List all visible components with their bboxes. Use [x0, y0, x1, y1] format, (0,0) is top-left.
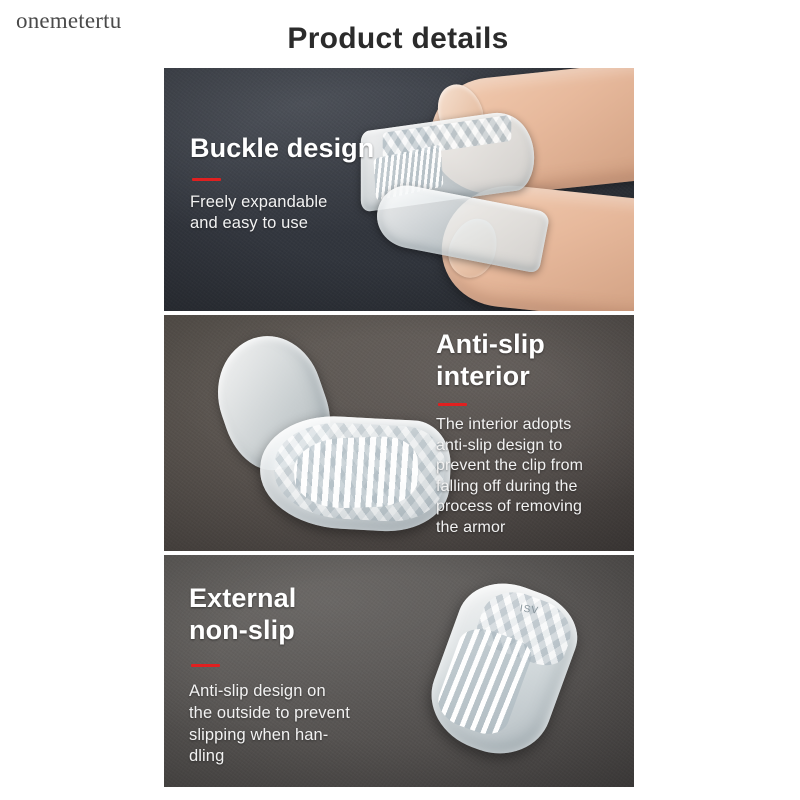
panel-2-body-line-2: anti-slip design to [436, 436, 626, 456]
panel-1-caption: Buckle design Freely expandable and easy… [190, 133, 410, 235]
panel-3-body-line-3: slipping when han- [189, 725, 404, 747]
panel-3-body-line-2: the outside to prevent [189, 703, 404, 725]
panel-1-heading: Buckle design [190, 133, 410, 165]
closed-clip-exterior-photo: ISV [426, 575, 626, 765]
page-title: Product details [0, 22, 800, 56]
panel-3-caption: External non-slip Anti-slip design on th… [189, 583, 404, 768]
clip-closed-body: ISV [417, 569, 589, 769]
panel-2-body-line-3: prevent the clip from [436, 456, 626, 476]
panel-1-body-line-2: and easy to use [190, 213, 410, 235]
open-clip-interior-photo [195, 321, 456, 549]
panel-2-body-line-6: the armor [436, 518, 626, 538]
panel-3-body-line-4: dling [189, 746, 404, 768]
panel-3-heading-line-1: External [189, 583, 404, 615]
panel-2-heading-line-2: interior [436, 361, 626, 393]
panel-2-body-line-5: process of removing [436, 497, 626, 517]
product-detail-panels: Buckle design Freely expandable and easy… [164, 68, 634, 791]
panel-2-body-line-1: The interior adopts [436, 415, 626, 435]
panel-3-heading-line-2: non-slip [189, 615, 404, 647]
clip-base [257, 413, 453, 535]
panel-2-caption: Anti-slip interior The interior adopts a… [436, 329, 626, 538]
panel-2-accent-rule [438, 403, 467, 406]
panel-1-body-line-1: Freely expandable [190, 192, 410, 214]
panel-2-body-line-4: falling off during the [436, 477, 626, 497]
page-title-text: Product details [287, 22, 508, 56]
clip-interior-tread [293, 435, 419, 509]
panel-3-body-line-1: Anti-slip design on [189, 681, 404, 703]
panel-3-accent-rule [191, 664, 220, 667]
panel-2-heading-line-1: Anti-slip [436, 329, 626, 361]
panel-buckle-design: Buckle design Freely expandable and easy… [164, 68, 634, 311]
panel-1-accent-rule [192, 178, 221, 181]
panel-external-non-slip: ISV External non-slip Anti-slip design o… [164, 555, 634, 787]
panel-anti-slip-interior: Anti-slip interior The interior adopts a… [164, 315, 634, 551]
